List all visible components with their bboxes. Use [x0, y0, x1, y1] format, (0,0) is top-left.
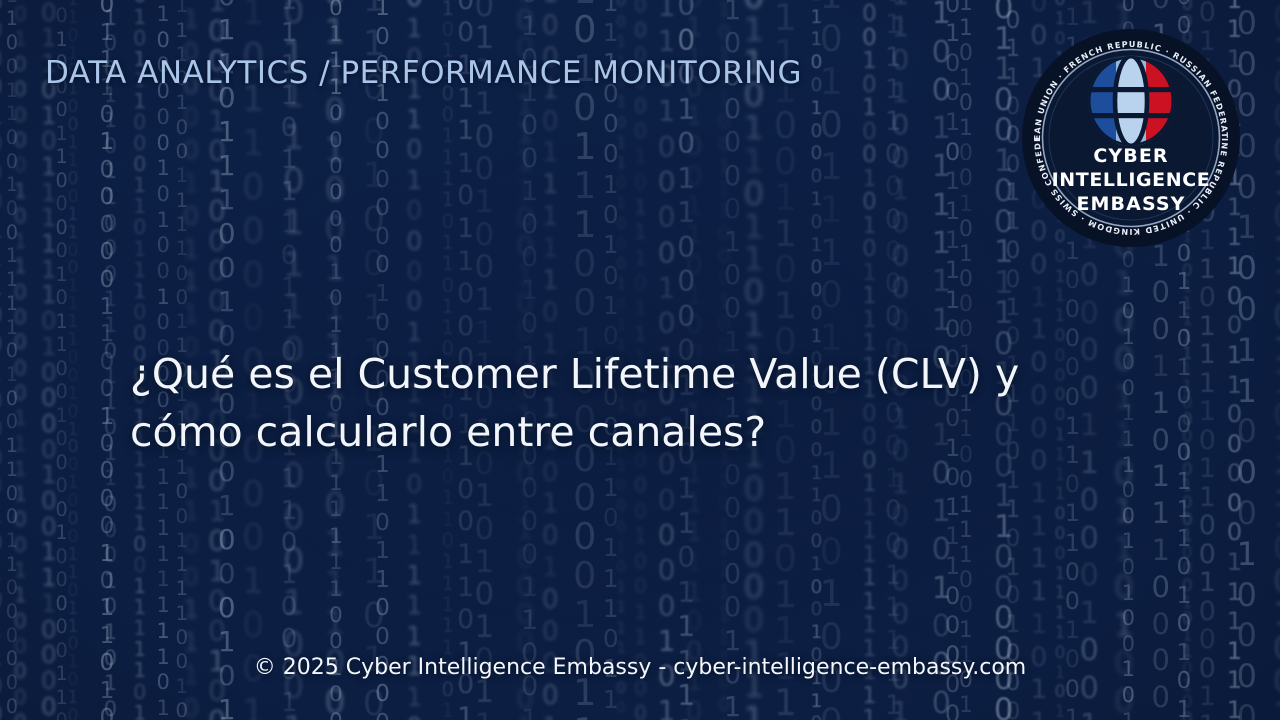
binary-rain-column: 1001011010111111010000100111000011 [39, 0, 59, 720]
binary-rain-column: 1100100000101100000111100110000001011101… [12, 0, 29, 720]
binary-rain-column: 001001101100011011011000101010110 [102, 0, 119, 720]
binary-rain-column: 00001000111001000010101100111100100 [0, 0, 6, 720]
binary-rain-column: 001100110010011110100110011000000011 [4, 0, 20, 720]
emblem-wordmark-line2: INTELLIGENCE [1052, 169, 1211, 191]
binary-rain-column: 0100011010100110011001111001010010001101… [66, 0, 80, 720]
section-eyebrow-label: DATA ANALYTICS / PERFORMANCE MONITORING [45, 55, 802, 91]
copyright-footer: © 2025 Cyber Intelligence Embassy - cybe… [0, 655, 1280, 680]
binary-rain-column: 101010001011011011100100110 [1270, 0, 1280, 720]
slide-canvas: 0000100011100100001010110011110010011001… [0, 0, 1280, 720]
binary-rain-column: 000111010000011001000010110101111011 [97, 0, 116, 720]
emblem-wordmark-line1: CYBER [1093, 145, 1168, 167]
emblem-wordmark-line3: EMBASSY [1076, 193, 1185, 215]
page-title: ¿Qué es el Customer Lifetime Value (CLV)… [130, 345, 1060, 461]
binary-rain-column: 110100011000010110010000100000110100 [54, 0, 70, 720]
cyber-intelligence-embassy-logo: UNITED STATES OF AMERICA · EUROPEAN UNIO… [1020, 27, 1242, 249]
